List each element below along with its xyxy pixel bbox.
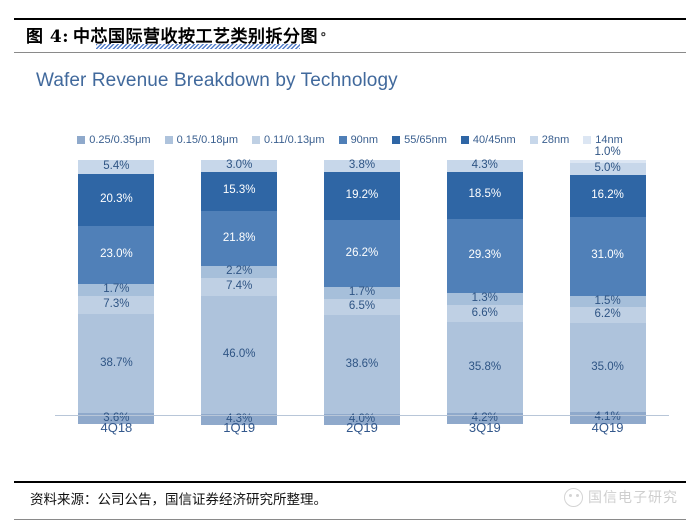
bar-segment[interactable]: 6.6% xyxy=(447,305,523,322)
segment-value-label: 7.4% xyxy=(226,281,252,293)
segment-value-label: 7.3% xyxy=(103,299,129,311)
bar-segment[interactable]: 2.2% xyxy=(201,266,277,278)
figure-page: 图 4:中芯国际营收按工艺类别拆分图。 Wafer Revenue Breakd… xyxy=(0,0,700,526)
bar-segment[interactable]: 6.2% xyxy=(570,307,646,323)
bar-segment[interactable]: 23.0% xyxy=(78,226,154,285)
bar-segment[interactable]: 7.4% xyxy=(201,278,277,297)
legend-label: 90nm xyxy=(351,134,379,146)
stacked-bar[interactable]: 5.4%20.3%23.0%1.7%7.3%38.7%3.6% xyxy=(78,160,154,415)
chart-legend: 0.25/0.35μm0.15/0.18μm0.11/0.13μm90nm55/… xyxy=(14,134,686,146)
bar-segment[interactable]: 1.7% xyxy=(324,287,400,299)
segment-value-label: 23.0% xyxy=(100,249,133,261)
legend-swatch xyxy=(461,136,469,144)
bar-segment[interactable]: 3.0% xyxy=(201,160,277,172)
segment-value-label: 2.2% xyxy=(226,266,252,278)
segment-value-label: 29.3% xyxy=(468,250,501,262)
legend-item[interactable]: 0.25/0.35μm xyxy=(77,134,150,146)
bar-segment[interactable]: 15.3% xyxy=(201,172,277,211)
segment-value-label: 3.0% xyxy=(226,160,252,172)
footer-rule-bottom xyxy=(14,519,686,520)
segment-value-label: 6.6% xyxy=(472,308,498,320)
bar-segment[interactable]: 1.7% xyxy=(78,284,154,296)
x-axis-label: 1Q19 xyxy=(178,420,301,435)
stacked-bar[interactable]: 3.8%19.2%26.2%1.7%6.5%38.6%4.0% xyxy=(324,160,400,415)
bar-segment[interactable]: 18.5% xyxy=(447,172,523,219)
bar-segment[interactable]: 31.0% xyxy=(570,217,646,296)
legend-label: 0.11/0.13μm xyxy=(264,134,325,146)
segment-value-label: 6.2% xyxy=(594,309,620,321)
bar-segment[interactable]: 35.8% xyxy=(447,322,523,413)
legend-swatch xyxy=(583,136,591,144)
segment-value-label: 35.0% xyxy=(591,362,624,374)
bar-segment[interactable]: 20.3% xyxy=(78,174,154,226)
source-note: 资料来源：公司公告，国信证券经济研究所整理。 xyxy=(30,488,327,508)
legend-swatch xyxy=(339,136,347,144)
legend-label: 28nm xyxy=(542,134,570,146)
bar-segment[interactable]: 46.0% xyxy=(201,296,277,413)
watermark-text: 国信电子研究 xyxy=(588,487,678,507)
bar-segment[interactable]: 38.6% xyxy=(324,315,400,413)
legend-label: 0.15/0.18μm xyxy=(177,134,238,146)
bar-group: 5.4%20.3%23.0%1.7%7.3%38.7%3.6%3.0%15.3%… xyxy=(55,160,669,415)
segment-value-label: 5.4% xyxy=(103,161,129,173)
chart-frame: Wafer Revenue Breakdown by Technology 0.… xyxy=(14,56,686,460)
x-axis-label: 4Q18 xyxy=(55,420,178,435)
x-axis-line xyxy=(55,415,669,416)
legend-item[interactable]: 0.15/0.18μm xyxy=(165,134,238,146)
legend-item[interactable]: 40/45nm xyxy=(461,134,516,146)
bar-segment[interactable]: 5.4% xyxy=(78,160,154,174)
plot-area: 5.4%20.3%23.0%1.7%7.3%38.7%3.6%3.0%15.3%… xyxy=(55,160,669,415)
legend-swatch xyxy=(77,136,85,144)
legend-swatch xyxy=(252,136,260,144)
legend-swatch xyxy=(530,136,538,144)
segment-value-label: 38.7% xyxy=(100,358,133,370)
bar-segment[interactable]: 5.0% xyxy=(570,163,646,176)
segment-value-label: 1.3% xyxy=(472,293,498,305)
bar-segment[interactable]: 21.8% xyxy=(201,211,277,267)
segment-value-label: 26.2% xyxy=(346,248,379,260)
caption-wavy-underline xyxy=(96,44,300,49)
stacked-bar[interactable]: 1.0%5.0%16.2%31.0%1.5%6.2%35.0%4.1% xyxy=(570,160,646,415)
segment-value-label: 31.0% xyxy=(591,250,624,262)
caption-rule-top xyxy=(14,18,686,20)
legend-label: 14nm xyxy=(595,134,623,146)
figure-caption-mark: 。 xyxy=(321,24,334,38)
segment-value-label: 3.8% xyxy=(349,160,375,172)
segment-value-label: 1.7% xyxy=(349,287,375,299)
chart-title: Wafer Revenue Breakdown by Technology xyxy=(36,70,398,92)
bar-segment[interactable]: 35.0% xyxy=(570,323,646,412)
bar-segment[interactable]: 6.5% xyxy=(324,299,400,316)
bar-segment[interactable]: 38.7% xyxy=(78,314,154,413)
segment-value-label: 21.8% xyxy=(223,233,256,245)
wechat-icon xyxy=(564,488,583,507)
segment-value-label: 46.0% xyxy=(223,349,256,361)
segment-value-label: 20.3% xyxy=(100,194,133,206)
x-axis-label: 2Q19 xyxy=(301,420,424,435)
watermark: 国信电子研究 xyxy=(564,487,678,507)
x-axis-labels: 4Q181Q192Q193Q194Q19 xyxy=(55,420,669,435)
segment-value-label: 1.7% xyxy=(103,284,129,296)
legend-item[interactable]: 55/65nm xyxy=(392,134,447,146)
x-axis-label: 3Q19 xyxy=(423,420,546,435)
segment-value-label: 15.3% xyxy=(223,185,256,197)
footer-rule-top xyxy=(14,481,686,483)
legend-label: 40/45nm xyxy=(473,134,516,146)
segment-value-label: 16.2% xyxy=(591,190,624,202)
x-axis-label: 4Q19 xyxy=(546,420,669,435)
bar-segment[interactable]: 26.2% xyxy=(324,220,400,287)
figure-caption-number: 图 4: xyxy=(26,27,69,47)
segment-value-label: 19.2% xyxy=(346,190,379,202)
bar-segment[interactable]: 29.3% xyxy=(447,219,523,294)
segment-value-label: 6.5% xyxy=(349,301,375,313)
bar-segment[interactable]: 4.3% xyxy=(447,160,523,172)
bar-segment[interactable]: 1.3% xyxy=(447,293,523,305)
bar-segment[interactable]: 3.8% xyxy=(324,160,400,172)
bar-segment[interactable]: 1.5% xyxy=(570,296,646,308)
segment-value-label: 5.0% xyxy=(594,163,620,175)
bar-slot: 1.0%5.0%16.2%31.0%1.5%6.2%35.0%4.1% xyxy=(546,160,669,415)
bar-segment[interactable]: 19.2% xyxy=(324,172,400,221)
segment-value-label: 1.5% xyxy=(594,296,620,308)
segment-value-label: 4.3% xyxy=(472,160,498,172)
legend-label: 0.25/0.35μm xyxy=(89,134,150,146)
segment-value-label: 38.6% xyxy=(346,359,379,371)
bar-slot: 4.3%18.5%29.3%1.3%6.6%35.8%4.2% xyxy=(423,160,546,415)
legend-swatch xyxy=(392,136,400,144)
legend-swatch xyxy=(165,136,173,144)
legend-item[interactable]: 0.11/0.13μm xyxy=(252,134,325,146)
segment-value-label: 1.0% xyxy=(594,147,620,159)
stacked-bar[interactable]: 3.0%15.3%21.8%2.2%7.4%46.0%4.3% xyxy=(201,160,277,415)
bar-segment[interactable]: 7.3% xyxy=(78,296,154,315)
segment-value-label: 35.8% xyxy=(468,362,501,374)
bar-slot: 3.0%15.3%21.8%2.2%7.4%46.0%4.3% xyxy=(178,160,301,415)
legend-item[interactable]: 14nm xyxy=(583,134,623,146)
bar-slot: 3.8%19.2%26.2%1.7%6.5%38.6%4.0% xyxy=(301,160,424,415)
bar-segment[interactable]: 16.2% xyxy=(570,175,646,216)
caption-rule-bottom xyxy=(14,52,686,53)
stacked-bar[interactable]: 4.3%18.5%29.3%1.3%6.6%35.8%4.2% xyxy=(447,160,523,415)
bar-slot: 5.4%20.3%23.0%1.7%7.3%38.7%3.6% xyxy=(55,160,178,415)
legend-item[interactable]: 28nm xyxy=(530,134,570,146)
legend-item[interactable]: 90nm xyxy=(339,134,379,146)
segment-value-label: 18.5% xyxy=(468,189,501,201)
legend-label: 55/65nm xyxy=(404,134,447,146)
